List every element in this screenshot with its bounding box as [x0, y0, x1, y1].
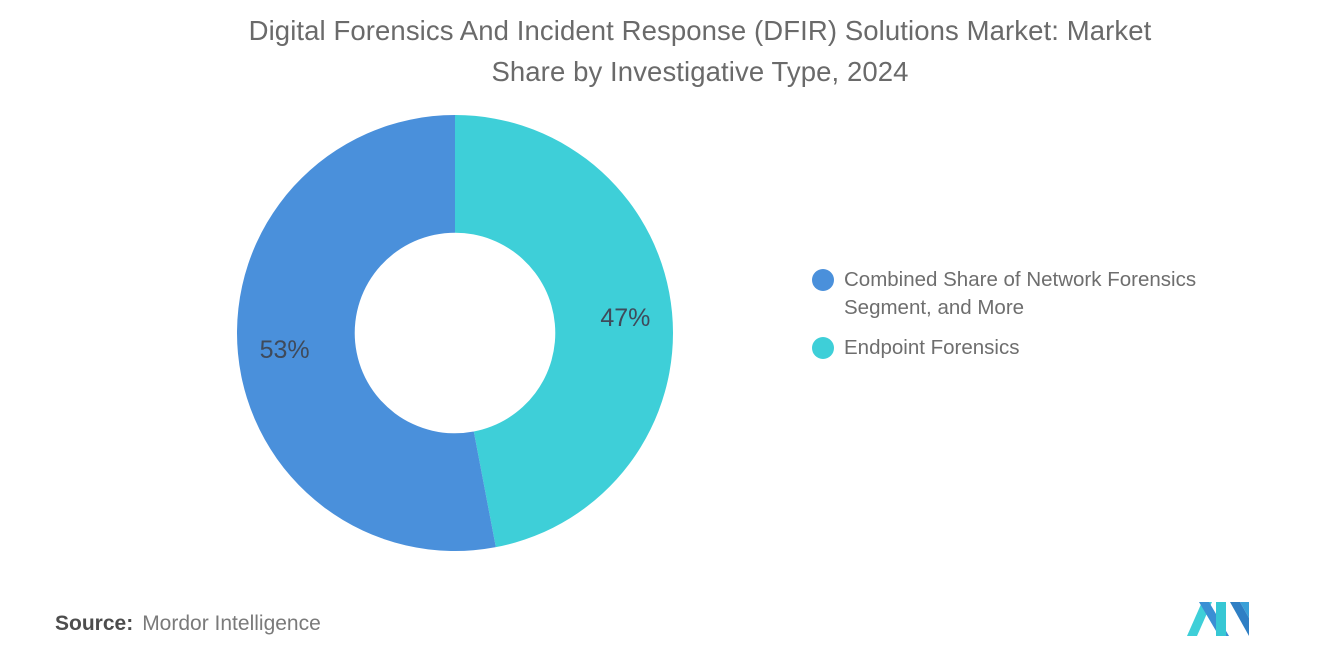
source-label: Source: — [55, 612, 133, 636]
legend-label-endpoint-forensics: Endpoint Forensics — [844, 334, 1019, 362]
donut-chart-svg: 53% 47% — [237, 115, 673, 551]
chart-page: Digital Forensics And Incident Response … — [0, 0, 1320, 665]
legend-swatch-icon-endpoint-forensics — [812, 337, 834, 359]
donut-chart: 53% 47% — [237, 115, 673, 551]
donut-slice-group — [237, 115, 673, 551]
legend-item-endpoint-forensics[interactable]: Endpoint Forensics — [812, 334, 1252, 362]
legend-swatch-icon-combined-share — [812, 269, 834, 291]
mordor-intelligence-logo-icon — [1185, 598, 1251, 638]
slice-label-combined-share: 53% — [260, 336, 310, 364]
chart-title: Digital Forensics And Incident Response … — [180, 10, 1220, 92]
logo-svg — [1185, 598, 1251, 638]
chart-title-line-1: Digital Forensics And Incident Response … — [180, 10, 1220, 51]
chart-legend: Combined Share of Network Forensics Segm… — [812, 266, 1252, 374]
chart-title-line-2: Share by Investigative Type, 2024 — [180, 51, 1220, 92]
legend-label-combined-share: Combined Share of Network Forensics Segm… — [844, 266, 1234, 322]
source-line: Source: Mordor Intelligence — [55, 612, 321, 636]
legend-item-combined-share[interactable]: Combined Share of Network Forensics Segm… — [812, 266, 1252, 322]
slice-label-endpoint-forensics: 47% — [600, 304, 650, 332]
source-value: Mordor Intelligence — [142, 612, 321, 636]
